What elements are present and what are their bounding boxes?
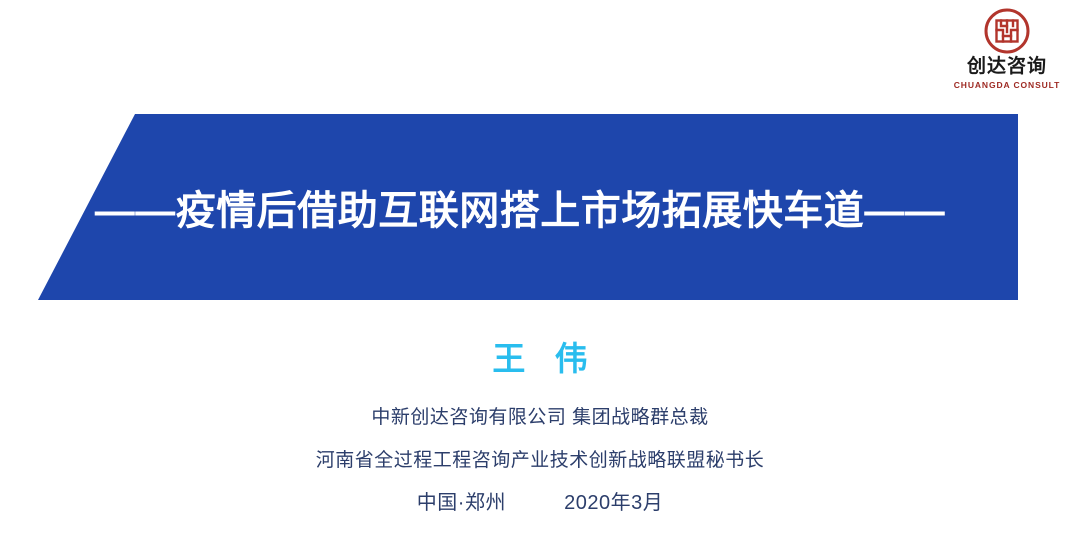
logo-company-name-en: CHUANGDA CONSULT — [954, 81, 1060, 90]
speaker-name: 王 伟 — [0, 332, 1080, 380]
company-logo: 创达咨询 CHUANGDA CONSULT — [952, 8, 1062, 90]
seal-icon — [984, 8, 1030, 54]
location-text: 中国·郑州 — [417, 492, 506, 514]
page-title: ——疫情后借助互联网搭上市场拓展快车道—— — [0, 114, 1080, 300]
speaker-title-line-2: 河南省全过程工程咨询产业技术创新战略联盟秘书长 — [0, 445, 1080, 472]
location-date-line: 中国·郑州 2020年3月 — [0, 486, 1080, 515]
date-text: 2020年3月 — [564, 492, 663, 514]
logo-company-name-cn: 创达咨询 — [967, 57, 1047, 76]
speaker-title-line-1: 中新创达咨询有限公司 集团战略群总裁 — [0, 402, 1080, 429]
presentation-slide: 创达咨询 CHUANGDA CONSULT ——疫情后借助互联网搭上市场拓展快车… — [0, 0, 1080, 554]
title-banner: ——疫情后借助互联网搭上市场拓展快车道—— — [0, 114, 1080, 300]
